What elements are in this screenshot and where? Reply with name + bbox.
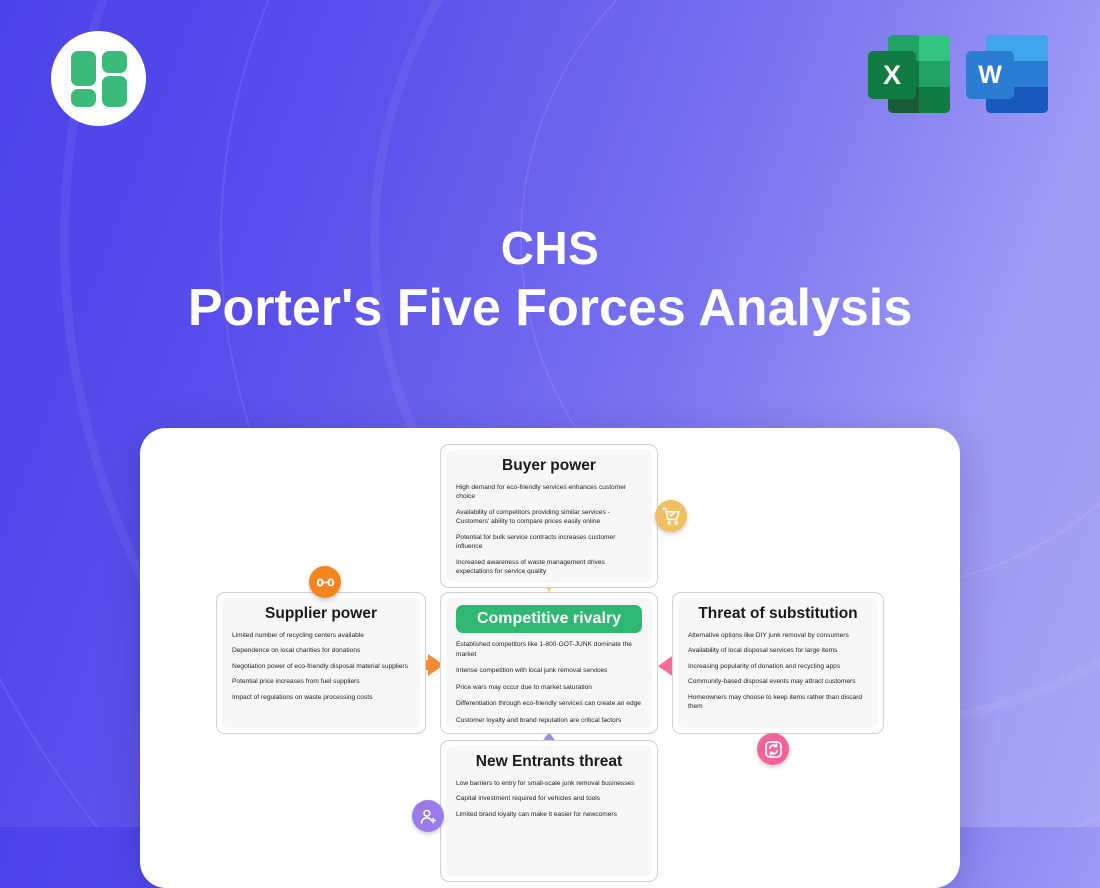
word-icon-letter: W (966, 51, 1014, 99)
export-format-icons: X W (868, 31, 1048, 115)
force-box-buyer-power: Buyer powerHigh demand for eco-friendly … (440, 444, 658, 588)
force-item: Limited number of recycling centers avai… (232, 631, 410, 641)
porters-five-forces-diagram: Buyer powerHigh demand for eco-friendly … (140, 428, 960, 888)
force-item: Low barriers to entry for small-scale ju… (456, 779, 642, 789)
force-item: Limited brand loyalty can make it easier… (456, 810, 642, 820)
force-item: Alternative options like DIY junk remova… (688, 631, 868, 641)
force-item: Potential price increases from fuel supp… (232, 677, 410, 687)
shopping-cart-icon[interactable] (655, 500, 687, 532)
force-box-inner: Threat of substitutionAlternative option… (678, 598, 878, 728)
company-name: CHS (0, 222, 1100, 275)
force-box-inner: Competitive rivalryEstablished competito… (446, 598, 652, 728)
force-item-list: High demand for eco-friendly services en… (456, 483, 642, 577)
diagram-card: Buyer powerHigh demand for eco-friendly … (140, 428, 960, 888)
force-item: Availability of competitors providing si… (456, 508, 642, 527)
force-item-list: Low barriers to entry for small-scale ju… (456, 779, 642, 820)
force-box-inner: New Entrants threatLow barriers to entry… (446, 746, 652, 876)
force-box-threat-of-substitution: Threat of substitutionAlternative option… (672, 592, 884, 734)
force-item: Established competitors like 1-800-GOT-J… (456, 640, 642, 659)
force-item: Availability of local disposal services … (688, 646, 868, 656)
force-item: Differentiation through eco-friendly ser… (456, 699, 642, 709)
force-box-inner: Buyer powerHigh demand for eco-friendly … (446, 450, 652, 582)
force-item: Intense competition with local junk remo… (456, 666, 642, 676)
force-item-list: Established competitors like 1-800-GOT-J… (456, 640, 642, 725)
analysis-heading: Porter's Five Forces Analysis (0, 275, 1100, 343)
force-box-inner: Supplier powerLimited number of recyclin… (222, 598, 420, 728)
force-box-title: New Entrants threat (456, 753, 642, 772)
force-item: High demand for eco-friendly services en… (456, 483, 642, 502)
excel-icon[interactable]: X (868, 31, 950, 115)
force-item: Customer loyalty and brand reputation ar… (456, 716, 642, 726)
force-box-supplier-power: Supplier powerLimited number of recyclin… (216, 592, 426, 734)
force-item: Negotiation power of eco-friendly dispos… (232, 662, 410, 672)
force-item: Impact of regulations on waste processin… (232, 693, 410, 703)
force-box-competitive-rivalry: Competitive rivalryEstablished competito… (440, 592, 658, 734)
force-item: Increasing popularity of donation and re… (688, 662, 868, 672)
brand-logo (51, 31, 146, 126)
add-person-icon[interactable] (412, 800, 444, 832)
force-item: Increased awareness of waste management … (456, 558, 642, 577)
force-box-title: Buyer power (456, 457, 642, 476)
force-box-title: Supplier power (232, 605, 410, 624)
refresh-sync-icon[interactable] (757, 733, 789, 765)
force-box-title: Threat of substitution (688, 605, 868, 624)
excel-icon-letter: X (868, 51, 916, 99)
force-item-list: Limited number of recycling centers avai… (232, 631, 410, 703)
page-title: CHS Porter's Five Forces Analysis (0, 222, 1100, 342)
force-box-title: Competitive rivalry (456, 605, 642, 633)
force-item: Dependence on local charities for donati… (232, 646, 410, 656)
force-item: Community-based disposal events may attr… (688, 677, 868, 687)
force-item-list: Alternative options like DIY junk remova… (688, 631, 868, 712)
grid-logo-icon (71, 51, 127, 107)
force-item: Homeowners may choose to keep items rath… (688, 693, 868, 712)
force-item: Capital investment required for vehicles… (456, 794, 642, 804)
link-chain-icon[interactable] (309, 566, 341, 598)
word-icon[interactable]: W (966, 31, 1048, 115)
force-item: Price wars may occur due to market satur… (456, 683, 642, 693)
force-item: Potential for bulk service contracts inc… (456, 533, 642, 552)
force-box-new-entrants-threat: New Entrants threatLow barriers to entry… (440, 740, 658, 882)
